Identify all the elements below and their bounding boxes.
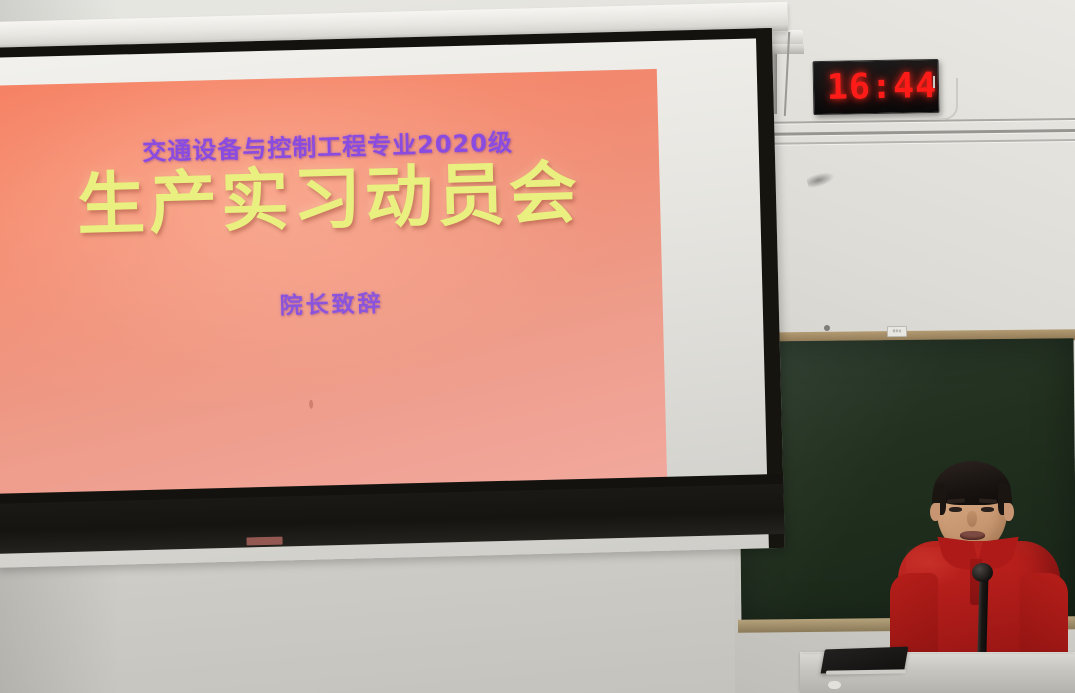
slide-presenter-line: 院长致辞 <box>0 277 663 328</box>
lecture-hall-scene: 16:44 值日生 AV EL SCREEN 3.0 交通设备与控制工程专业20… <box>0 0 1075 693</box>
slide-title: 生产实习动员会 <box>0 155 661 245</box>
speaker-ear-left <box>930 503 940 521</box>
speaker-eye-left <box>949 507 962 512</box>
slide-dust-speck <box>309 400 313 409</box>
projection-screen: 交通设备与控制工程专业2020级 生产实习动员会 院长致辞 <box>0 28 785 568</box>
blackboard-mount-screw <box>824 325 830 331</box>
projected-slide: 交通设备与控制工程专业2020级 生产实习动员会 院长致辞 <box>0 69 668 538</box>
screen-warning-sticker <box>246 537 282 546</box>
mouse-icon <box>828 681 841 689</box>
speaker-nose <box>967 511 977 527</box>
microphone-icon <box>972 563 993 582</box>
digital-clock: 16:44 <box>813 59 940 115</box>
clock-cable-loop <box>930 78 958 120</box>
speaker-ear-right <box>1004 503 1014 521</box>
speaker-eye-right <box>981 507 994 512</box>
speaker-mouth <box>960 531 985 540</box>
clock-time-display: 16:44 <box>815 68 938 105</box>
blackboard-duty-card: 值日生 <box>887 326 907 337</box>
